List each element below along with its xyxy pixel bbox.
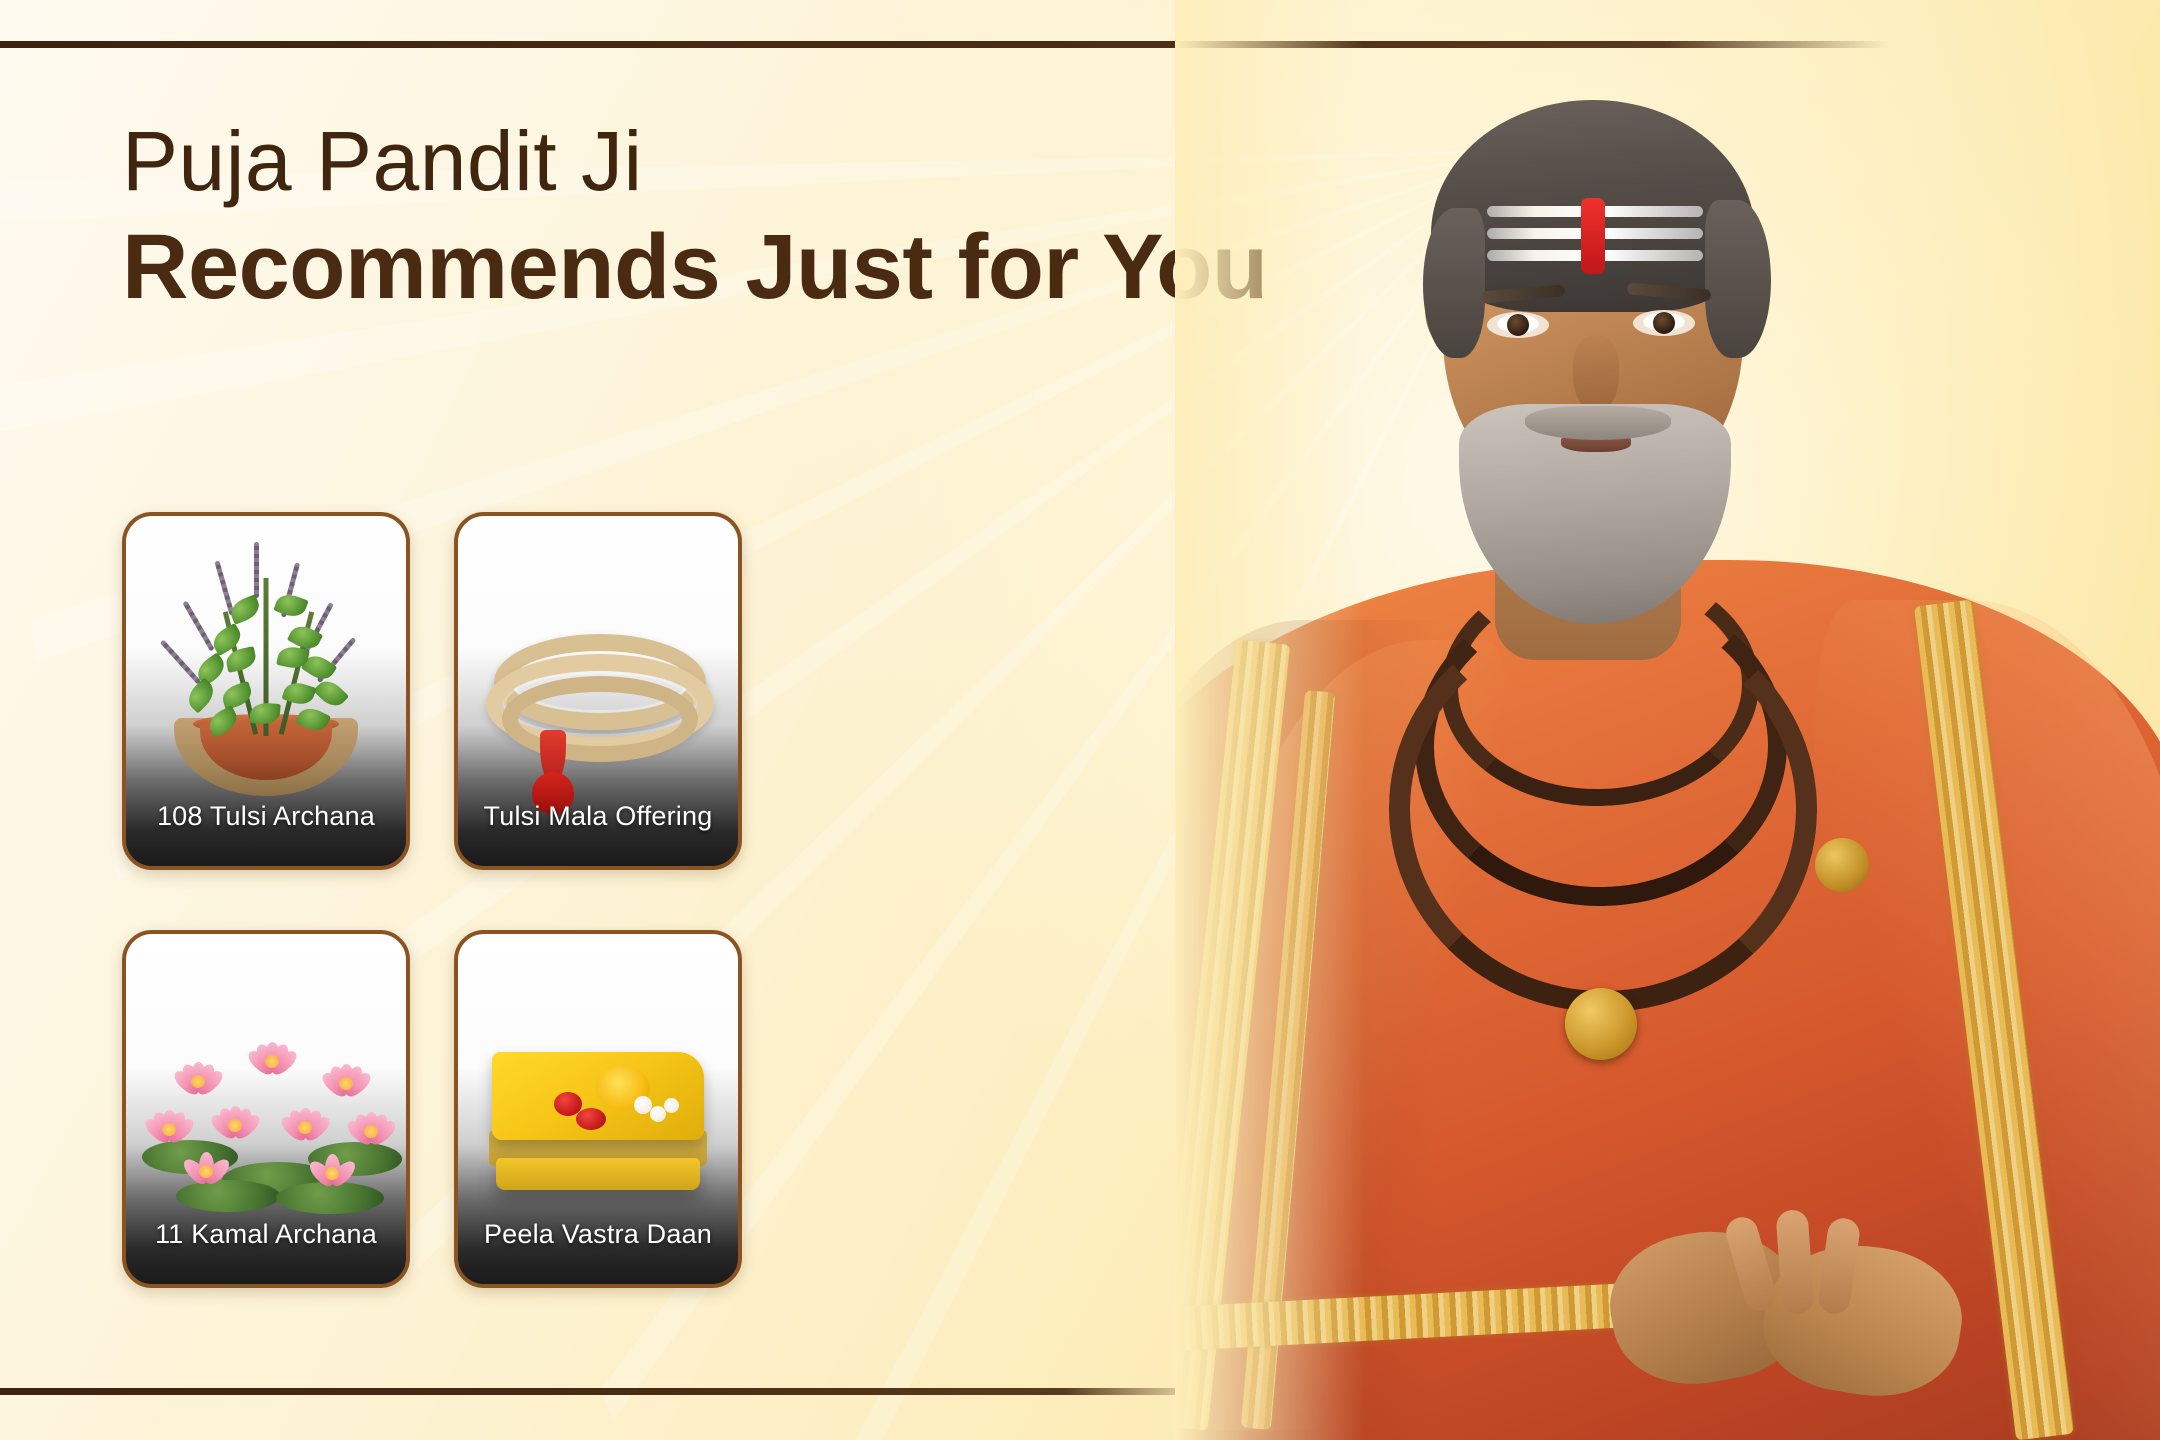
eye-left — [1487, 312, 1549, 338]
recommendation-card-grid: 108 Tulsi Archana Tulsi Mala Offering — [122, 512, 742, 1288]
product-card-kamal-archana[interactable]: 11 Kamal Archana — [122, 930, 410, 1288]
tilak-red-mark — [1581, 198, 1605, 274]
product-card-tulsi-archana[interactable]: 108 Tulsi Archana — [122, 512, 410, 870]
headline-block: Puja Pandit Ji Recommends Just for You — [122, 118, 1268, 317]
product-card-peela-vastra[interactable]: Peela Vastra Daan — [454, 930, 742, 1288]
page-title-bold: Recommends Just for You — [122, 219, 1268, 317]
nose — [1573, 336, 1619, 412]
promo-banner: Puja Pandit Ji Recommends Just for You — [0, 0, 2160, 1440]
divider-line-bottom — [0, 1388, 1210, 1395]
gold-bead — [1815, 838, 1869, 892]
card-label: Tulsi Mala Offering — [458, 801, 738, 832]
gold-pendant — [1565, 988, 1637, 1060]
page-title-light: Puja Pandit Ji — [122, 118, 1268, 205]
pandit-portrait — [1175, 0, 2160, 1440]
hair-side-right — [1705, 200, 1771, 358]
moustache — [1525, 406, 1671, 440]
card-label: 108 Tulsi Archana — [126, 801, 406, 832]
card-label: 11 Kamal Archana — [126, 1219, 406, 1250]
hair-side-left — [1423, 208, 1485, 358]
product-card-tulsi-mala[interactable]: Tulsi Mala Offering — [454, 512, 742, 870]
card-label: Peela Vastra Daan — [458, 1219, 738, 1250]
eye-right — [1633, 310, 1695, 336]
